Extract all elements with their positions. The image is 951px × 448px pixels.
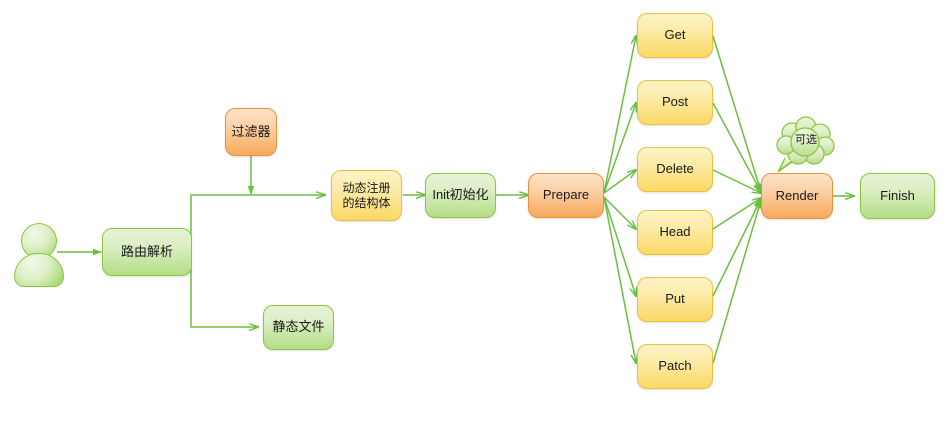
actor-body-icon [14, 253, 64, 287]
node-prepare[interactable]: Prepare [528, 173, 604, 218]
node-method-head[interactable]: Head [637, 210, 713, 255]
node-method-put[interactable]: Put [637, 277, 713, 322]
node-method-delete[interactable]: Delete [637, 147, 713, 192]
node-dynamic-struct[interactable]: 动态注册 的结构体 [331, 170, 402, 221]
node-filter[interactable]: 过滤器 [225, 108, 277, 156]
node-finish[interactable]: Finish [860, 173, 935, 219]
edge-get-render [713, 36, 761, 192]
node-method-get[interactable]: Get [637, 13, 713, 58]
node-method-patch[interactable]: Patch [637, 344, 713, 389]
edge-layer [0, 0, 951, 448]
node-init[interactable]: Init初始化 [425, 173, 496, 218]
optional-callout[interactable]: 可选 [772, 116, 840, 174]
user-actor[interactable] [14, 223, 62, 285]
flowchart-canvas: 路由解析 过滤器 静态文件 动态注册 的结构体 Init初始化 Prepare … [0, 0, 951, 448]
edge-route-struct [191, 195, 325, 228]
node-method-post[interactable]: Post [637, 80, 713, 125]
optional-callout-label: 可选 [772, 116, 840, 174]
edge-delete-render [713, 170, 761, 193]
node-render[interactable]: Render [761, 173, 833, 219]
node-route-parse[interactable]: 路由解析 [102, 228, 192, 276]
edge-route-static [191, 228, 258, 327]
node-static-file[interactable]: 静态文件 [263, 305, 334, 350]
